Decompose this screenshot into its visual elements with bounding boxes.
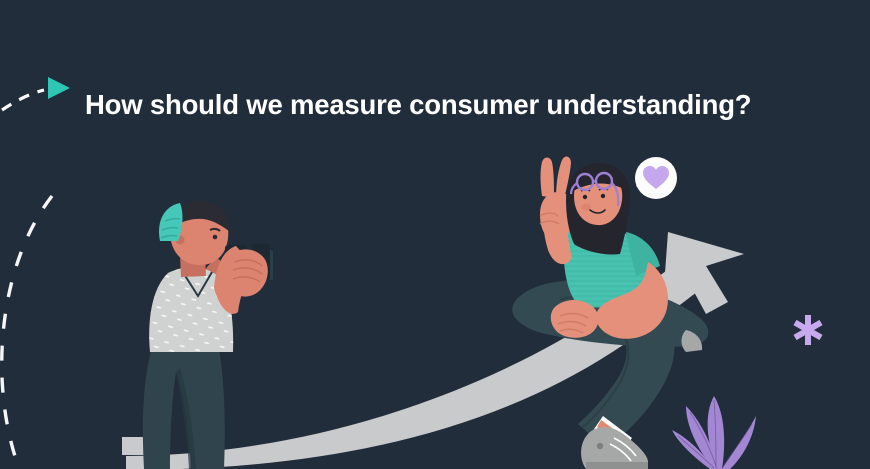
- play-triangle-icon: [44, 73, 74, 103]
- illustration-canvas: [0, 0, 870, 469]
- page-title: How should we measure consumer understan…: [85, 88, 751, 122]
- heart-speech-bubble: [635, 157, 677, 199]
- slide-canvas: How should we measure consumer understan…: [0, 0, 870, 469]
